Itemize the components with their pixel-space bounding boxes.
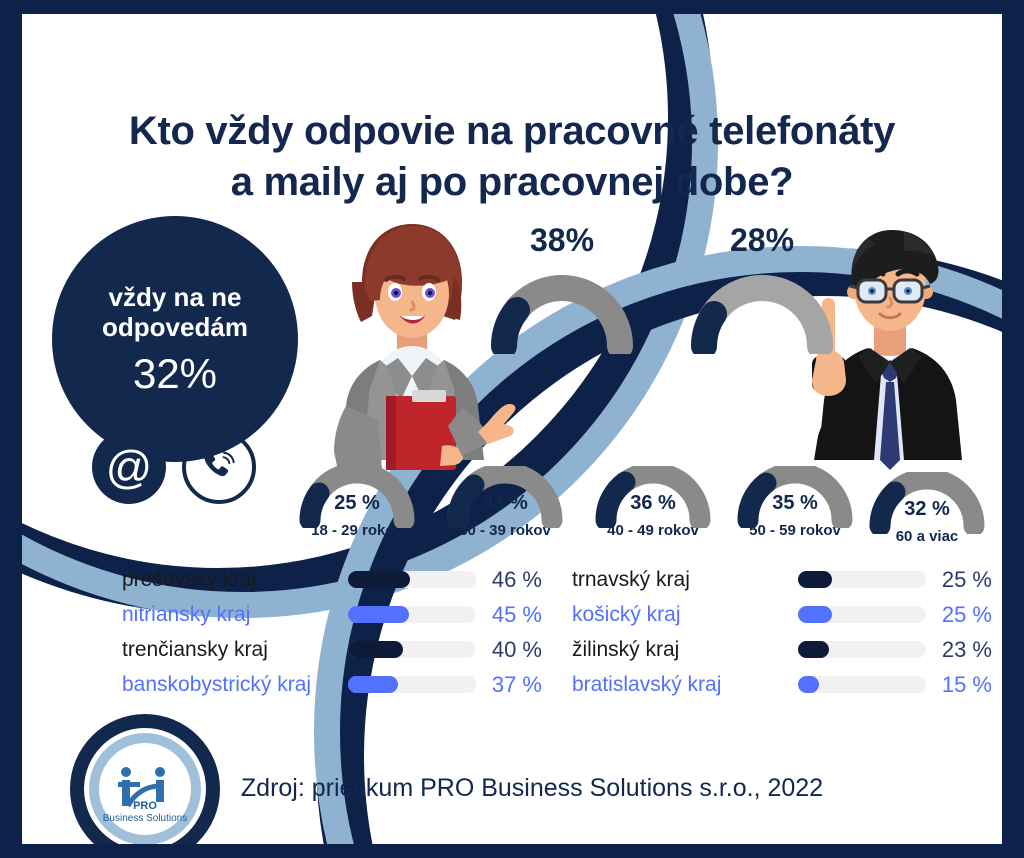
region-value: 46 % [476, 567, 542, 593]
gauge-women-arc [482, 264, 642, 359]
regions-column-right: trnavský kraj 25 % košický kraj 25 % [572, 562, 992, 702]
region-bar [348, 571, 476, 588]
region-bar-fill [798, 641, 829, 658]
region-bar-fill [798, 676, 819, 693]
region-name: bratislavský kraj [572, 673, 721, 697]
phone-icon [182, 430, 256, 504]
logo-text-business-solutions: Business Solutions [70, 813, 220, 824]
region-row: žilinský kraj 23 % [572, 632, 992, 667]
age-gauge-18-29: 25 % 18 - 29 rokov [292, 466, 422, 539]
region-name: banskobystrický kraj [122, 673, 311, 697]
age-gauge-30-39-arc: 33 % [440, 466, 570, 528]
age-gauge-60-plus-value: 32 % [862, 498, 992, 521]
region-name: trenčiansky kraj [122, 638, 268, 662]
gauge-men-value: 28% [682, 222, 842, 259]
age-gauge-18-29-arc: 25 % [292, 466, 422, 528]
regions-column-left: prešovský kraj 46 % nitriansky kraj 45 % [122, 562, 542, 702]
region-row: trnavský kraj 25 % [572, 562, 992, 597]
region-bar [348, 606, 476, 623]
region-value: 45 % [476, 602, 542, 628]
region-bar [798, 641, 926, 658]
region-value: 23 % [926, 637, 992, 663]
region-bar-fill [348, 641, 403, 658]
region-bar [798, 606, 926, 623]
region-value: 25 % [926, 567, 992, 593]
region-name: košický kraj [572, 603, 681, 627]
badge-label-line1: vždy na ne [109, 283, 242, 313]
age-gauges-row: 25 % 18 - 29 rokov 33 % 30 - 39 rokov [292, 466, 992, 556]
region-row: bratislavský kraj 15 % [572, 667, 992, 702]
age-gauge-50-59-value: 35 % [730, 492, 860, 515]
region-bar [798, 676, 926, 693]
infographic-card: Kto vždy odpovie na pracovné telefonáty … [22, 14, 1002, 844]
region-row: trenčiansky kraj 40 % [122, 632, 542, 667]
page-title: Kto vždy odpovie na pracovné telefonáty … [22, 106, 1002, 208]
badge-value: 32% [133, 353, 217, 395]
region-bar-fill [348, 676, 398, 693]
badge-label-line2: odpovedám [102, 313, 248, 343]
region-bar-fill [348, 571, 410, 588]
age-gauge-60-plus-arc: 32 % [862, 472, 992, 534]
region-name: trnavský kraj [572, 568, 690, 592]
region-bar [348, 641, 476, 658]
region-name: prešovský kraj [122, 568, 256, 592]
region-row: nitriansky kraj 45 % [122, 597, 542, 632]
region-bar [798, 571, 926, 588]
page-title-line2: a maily aj po pracovnej dobe? [22, 157, 1002, 208]
age-gauge-50-59-arc: 35 % [730, 466, 860, 528]
contact-icons: @ [92, 424, 262, 512]
age-gauge-40-49: 36 % 40 - 49 rokov [588, 466, 718, 539]
age-gauge-18-29-value: 25 % [292, 492, 422, 515]
region-bar [348, 676, 476, 693]
region-value: 15 % [926, 672, 992, 698]
region-bar-fill [798, 606, 832, 623]
region-row: banskobystrický kraj 37 % [122, 667, 542, 702]
infographic-root: Kto vždy odpovie na pracovné telefonáty … [0, 0, 1024, 858]
region-name: žilinský kraj [572, 638, 679, 662]
gauge-men-arc [682, 264, 842, 359]
region-value: 40 % [476, 637, 542, 663]
region-name: nitriansky kraj [122, 603, 250, 627]
age-gauge-40-49-arc: 36 % [588, 466, 718, 528]
region-bar-fill [348, 606, 409, 623]
age-gauge-50-59: 35 % 50 - 59 rokov [730, 466, 860, 539]
at-icon: @ [92, 430, 166, 504]
source-note: Zdroj: prieskum PRO Business Solutions s… [182, 774, 882, 803]
age-gauge-60-plus: 32 % 60 a viac [862, 472, 992, 545]
region-row: košický kraj 25 % [572, 597, 992, 632]
age-gauge-30-39: 33 % 30 - 39 rokov [440, 466, 570, 539]
page-title-line1: Kto vždy odpovie na pracovné telefonáty [22, 106, 1002, 157]
age-gauge-30-39-value: 33 % [440, 492, 570, 515]
region-bar-fill [798, 571, 832, 588]
region-value: 25 % [926, 602, 992, 628]
age-gauge-40-49-value: 36 % [588, 492, 718, 515]
gauge-women-value: 38% [482, 222, 642, 259]
region-row: prešovský kraj 46 % [122, 562, 542, 597]
region-value: 37 % [476, 672, 542, 698]
